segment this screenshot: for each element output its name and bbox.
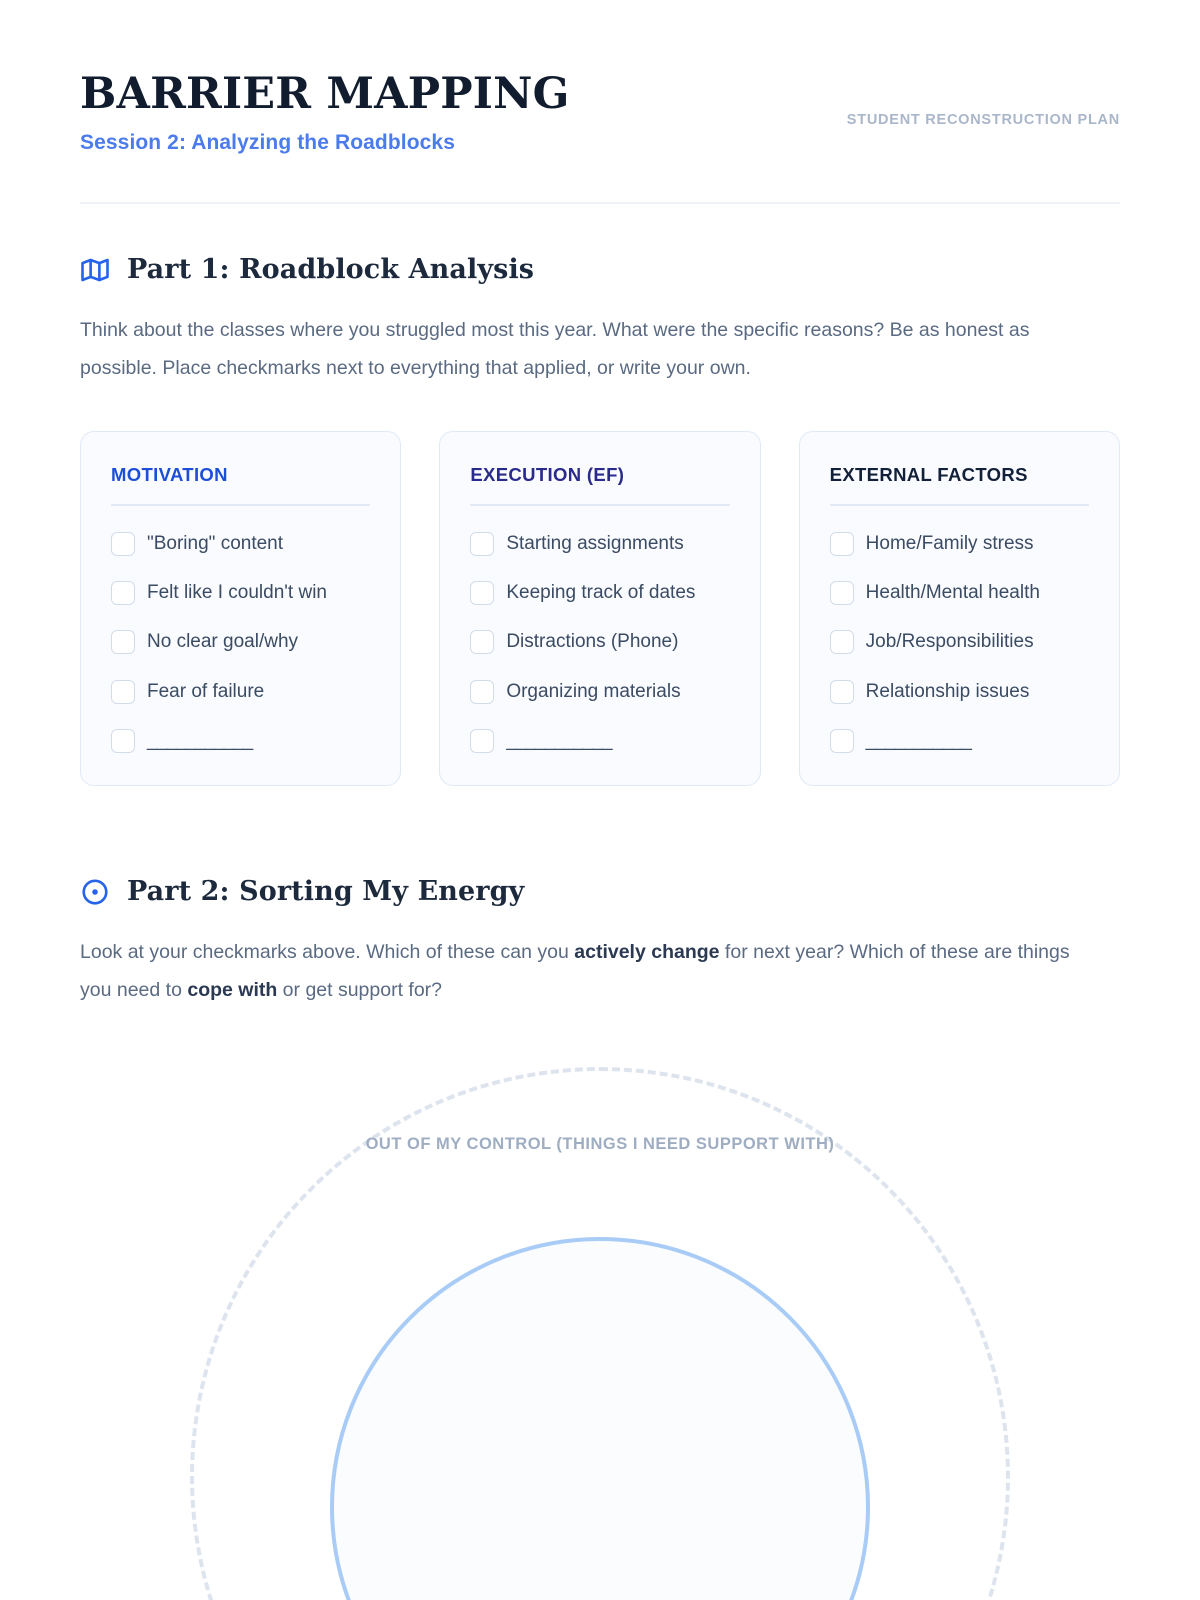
checkbox[interactable] [470,680,494,704]
card-title-divider [830,504,1089,506]
list-item[interactable]: Keeping track of dates [470,577,729,609]
header-divider [80,202,1120,204]
checkbox[interactable] [830,729,854,753]
checkbox[interactable] [111,729,135,753]
checkbox[interactable] [470,532,494,556]
part1-title: Part 1: Roadblock Analysis [127,254,534,285]
list-item-blank[interactable]: ___________ [830,725,1089,757]
page-title: BARRIER MAPPING [80,72,570,117]
checklist: Home/Family stress Health/Mental health … [830,528,1089,757]
write-in-line[interactable]: ___________ [147,725,252,757]
list-item-label: Keeping track of dates [506,577,695,609]
list-item[interactable]: Felt like I couldn't win [111,577,370,609]
list-item-label: Felt like I couldn't win [147,577,327,609]
list-item[interactable]: Health/Mental health [830,577,1089,609]
list-item-label: No clear goal/why [147,626,298,658]
list-item[interactable]: Relationship issues [830,676,1089,708]
card-title-divider [111,504,370,506]
list-item-label: Health/Mental health [866,577,1040,609]
checkbox[interactable] [111,680,135,704]
card-title: EXECUTION (EF) [470,464,729,486]
checkbox[interactable] [111,532,135,556]
card-title: EXTERNAL FACTORS [830,464,1089,486]
part2-body-bold2: cope with [187,979,277,1001]
barrier-card-row: MOTIVATION "Boring" content Felt like I … [80,431,1120,786]
list-item-label: Starting assignments [506,528,683,560]
part1-body: Think about the classes where you strugg… [80,311,1100,387]
checkbox[interactable] [830,532,854,556]
list-item-label: Distractions (Phone) [506,626,678,658]
list-item-label: "Boring" content [147,528,283,560]
part2-section: Part 2: Sorting My Energy Look at your c… [80,876,1120,1427]
part2-body-bold1: actively change [574,941,719,963]
list-item-label: Home/Family stress [866,528,1034,560]
checkbox[interactable] [111,581,135,605]
list-item[interactable]: No clear goal/why [111,626,370,658]
write-in-line[interactable]: ___________ [866,725,971,757]
part2-title: Part 2: Sorting My Energy [127,876,524,907]
list-item[interactable]: Distractions (Phone) [470,626,729,658]
list-item[interactable]: Home/Family stress [830,528,1089,560]
list-item[interactable]: Starting assignments [470,528,729,560]
checkbox[interactable] [470,729,494,753]
checkbox[interactable] [470,581,494,605]
list-item-label: Fear of failure [147,676,264,708]
write-in-line[interactable]: ___________ [506,725,611,757]
list-item-label: Relationship issues [866,676,1030,708]
part2-body: Look at your checkmarks above. Which of … [80,933,1100,1009]
checkbox[interactable] [830,581,854,605]
card-title-divider [470,504,729,506]
barrier-card-motivation: MOTIVATION "Boring" content Felt like I … [80,431,401,786]
worksheet-page: BARRIER MAPPING Session 2: Analyzing the… [0,0,1200,1600]
list-item-label: Organizing materials [506,676,680,708]
part2-body-seg1: Look at your checkmarks above. Which of … [80,941,574,963]
outer-circle-label: OUT OF MY CONTROL (THINGS I NEED SUPPORT… [366,1135,835,1154]
list-item[interactable]: Job/Responsibilities [830,626,1089,658]
target-icon [80,877,110,907]
list-item-blank[interactable]: ___________ [111,725,370,757]
header-eyebrow: STUDENT RECONSTRUCTION PLAN [847,72,1120,128]
control-circles-diagram: OUT OF MY CONTROL (THINGS I NEED SUPPORT… [80,1067,1120,1427]
checklist: "Boring" content Felt like I couldn't wi… [111,528,370,757]
checkbox[interactable] [830,630,854,654]
list-item-label: Job/Responsibilities [866,626,1034,658]
header-titles: BARRIER MAPPING Session 2: Analyzing the… [80,72,570,155]
part2-body-seg3: or get support for? [277,979,442,1001]
card-title: MOTIVATION [111,464,370,486]
barrier-card-external: EXTERNAL FACTORS Home/Family stress Heal… [799,431,1120,786]
list-item[interactable]: "Boring" content [111,528,370,560]
list-item-blank[interactable]: ___________ [470,725,729,757]
part1-heading-row: Part 1: Roadblock Analysis [80,254,1120,285]
page-subtitle: Session 2: Analyzing the Roadblocks [80,131,570,155]
barrier-card-execution: EXECUTION (EF) Starting assignments Keep… [439,431,760,786]
part2-heading-row: Part 2: Sorting My Energy [80,876,1120,907]
checkbox[interactable] [470,630,494,654]
checklist: Starting assignments Keeping track of da… [470,528,729,757]
page-header: BARRIER MAPPING Session 2: Analyzing the… [80,0,1120,155]
map-icon [80,255,110,285]
list-item[interactable]: Fear of failure [111,676,370,708]
checkbox[interactable] [111,630,135,654]
list-item[interactable]: Organizing materials [470,676,729,708]
checkbox[interactable] [830,680,854,704]
